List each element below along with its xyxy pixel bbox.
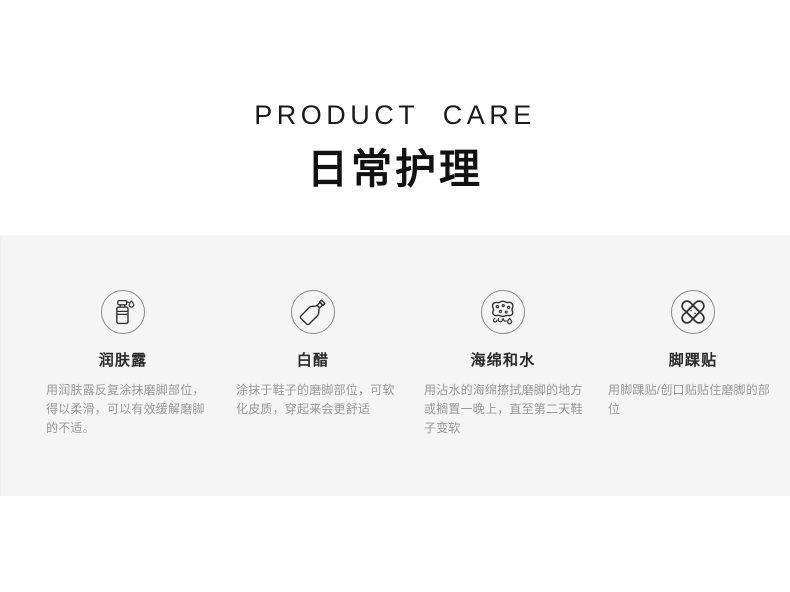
bandage-cross-icon — [598, 289, 788, 335]
care-tip-heading: 脚踝贴 — [598, 351, 788, 371]
page-title-english: PRODUCT CARE — [0, 99, 790, 131]
care-tips-list: 润肤露 用润肤露反复涂抹磨脚部位，得以柔滑，可以有效缓解磨脚的不适。 — [1, 235, 790, 496]
page-title-chinese: 日常护理 — [0, 144, 790, 194]
care-tip-card-sponge: 海绵和水 用沾水的海绵擦拭磨脚的地方或搁置一晚上，直至第二天鞋子变软 — [408, 235, 598, 438]
care-tip-heading: 润肤露 — [28, 351, 218, 371]
care-tip-body: 用脚踝贴/创口贴贴住磨脚的部位 — [598, 381, 788, 419]
vinegar-bottle-icon — [218, 289, 408, 335]
care-tip-card-vinegar: 白醋 涂抹于鞋子的磨脚部位，可软化皮质，穿起来会更舒适 — [218, 235, 408, 419]
product-care-page: PRODUCT CARE 日常护理 — [0, 0, 790, 592]
care-tip-body: 用润肤露反复涂抹磨脚部位，得以柔滑，可以有效缓解磨脚的不适。 — [28, 381, 218, 438]
page-header: PRODUCT CARE 日常护理 — [0, 0, 790, 235]
care-tip-card-lotion: 润肤露 用润肤露反复涂抹磨脚部位，得以柔滑，可以有效缓解磨脚的不适。 — [28, 235, 218, 438]
care-tip-body: 涂抹于鞋子的磨脚部位，可软化皮质，穿起来会更舒适 — [218, 381, 408, 419]
lotion-bottle-icon — [28, 289, 218, 335]
care-tip-card-bandage: 脚踝贴 用脚踝贴/创口贴贴住磨脚的部位 — [598, 235, 788, 419]
care-tip-body: 用沾水的海绵擦拭磨脚的地方或搁置一晚上，直至第二天鞋子变软 — [408, 381, 598, 438]
care-tips-panel: 润肤露 用润肤露反复涂抹磨脚部位，得以柔滑，可以有效缓解磨脚的不适。 — [0, 235, 790, 496]
care-tip-heading: 海绵和水 — [408, 351, 598, 371]
footer-whitespace — [0, 496, 790, 592]
care-tip-heading: 白醋 — [218, 351, 408, 371]
sponge-water-icon — [408, 289, 598, 335]
